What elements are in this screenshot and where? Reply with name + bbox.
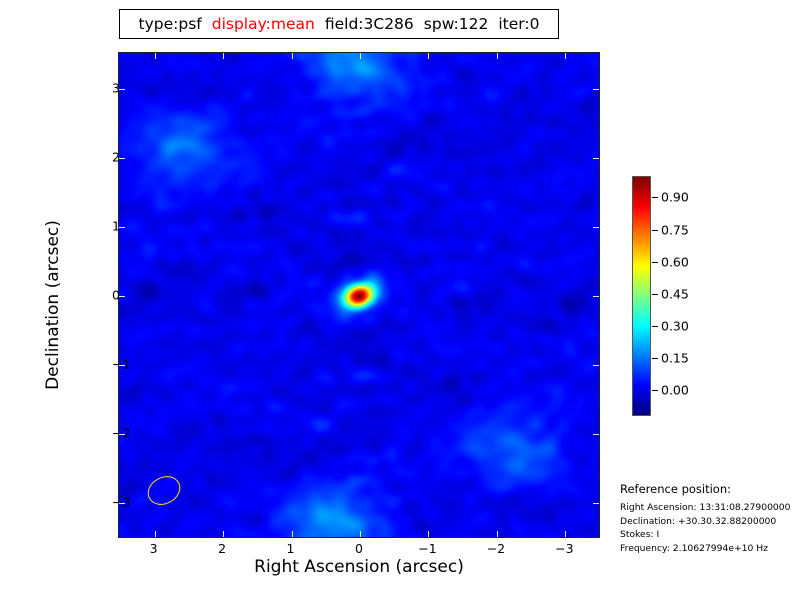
colorbar-ticklabel: 0.60 [661,254,689,269]
x-tick-bot [497,531,498,537]
x-ticklabel: 0 [355,541,363,556]
title-field: field:3C286 [325,15,414,33]
colorbar-ticklabel: 0.45 [661,286,689,301]
colorbar [632,176,651,416]
y-ticklabel: 1 [112,218,120,233]
x-tick-bot [428,531,429,537]
y-axis-title: Declination (arcsec) [43,155,63,455]
reference-declination: Declination: +30.30.32.88200000 [620,515,800,529]
title-display: display:mean [212,15,315,33]
colorbar-tick [652,262,658,263]
x-tick-bot [292,531,293,537]
psf-heatmap-canvas[interactable] [119,53,599,537]
colorbar-tick [652,390,658,391]
y-tick-right [593,158,599,159]
x-tick-bot [360,531,361,537]
psf-image-plot[interactable] [118,52,600,538]
x-axis-title: Right Ascension (arcsec) [118,557,600,577]
y-tick-right [593,365,599,366]
x-ticklabel: −3 [555,541,573,556]
x-tick-top [155,53,156,59]
x-ticklabel: 1 [287,541,295,556]
x-tick-top [360,53,361,59]
y-tick-right [593,434,599,435]
colorbar-gradient [633,177,650,415]
x-tick-bot [223,531,224,537]
title-spw: spw:122 [424,15,489,33]
psf-viewer: type:psf display:mean field:3C286 spw:12… [0,0,800,600]
title-iter: iter:0 [498,15,539,33]
plot-title-box: type:psf display:mean field:3C286 spw:12… [119,9,559,39]
y-tick-right [593,227,599,228]
colorbar-tick [652,358,658,359]
x-tick-top [497,53,498,59]
y-tick-right [593,503,599,504]
y-ticklabel: 3 [112,80,120,95]
y-ticklabel: −3 [112,495,130,510]
colorbar-ticklabel: 0.15 [661,351,689,366]
title-type: type:psf [139,15,202,33]
x-tick-top [565,53,566,59]
reference-heading: Reference position: [620,482,800,496]
reference-stokes: Stokes: I [620,528,800,542]
y-ticklabel: −2 [112,426,130,441]
x-tick-top [428,53,429,59]
x-tick-top [292,53,293,59]
colorbar-tick [652,197,658,198]
x-tick-top [223,53,224,59]
y-ticklabel: 2 [112,149,120,164]
colorbar-ticklabel: 0.75 [661,222,689,237]
x-tick-bot [565,531,566,537]
colorbar-ticklabel: 0.00 [661,383,689,398]
y-tick-right [593,89,599,90]
x-ticklabel: −2 [487,541,505,556]
x-ticklabel: 3 [150,541,158,556]
colorbar-tick [652,326,658,327]
colorbar-tick [652,294,658,295]
reference-position-info: Reference position: Right Ascension: 13:… [620,482,800,555]
x-ticklabel: 2 [218,541,226,556]
y-tick-right [593,296,599,297]
reference-frequency: Frequency: 2.10627994e+10 Hz [620,542,800,556]
colorbar-tick [652,230,658,231]
x-ticklabel: −1 [418,541,436,556]
reference-right-ascension: Right Ascension: 13:31:08.27900000 [620,501,800,515]
colorbar-ticklabel: 0.30 [661,319,689,334]
x-tick-bot [155,531,156,537]
y-ticklabel: 0 [112,288,120,303]
colorbar-ticklabel: 0.90 [661,190,689,205]
y-ticklabel: −1 [112,357,130,372]
